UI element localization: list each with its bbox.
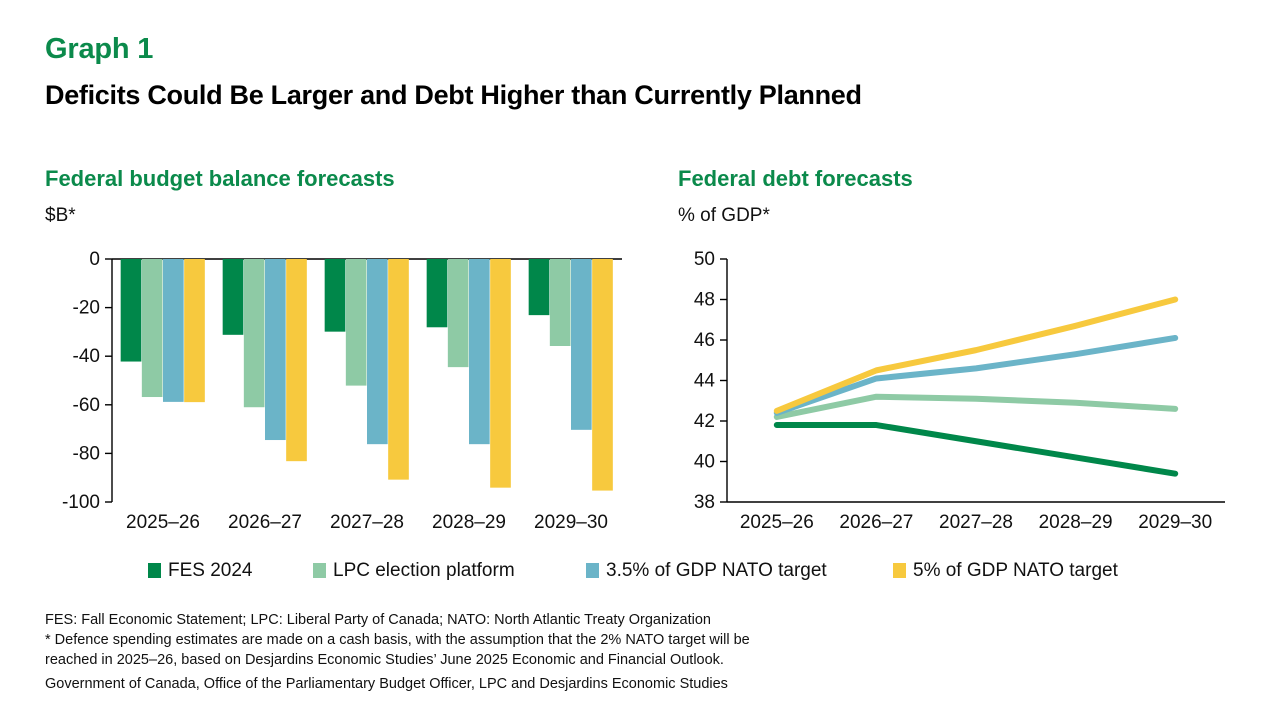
bar-segment: [529, 259, 550, 315]
page-title: Deficits Could Be Larger and Debt Higher…: [45, 80, 862, 111]
bar-segment: [592, 259, 613, 491]
graph-page: Graph 1 Deficits Could Be Larger and Deb…: [0, 0, 1280, 720]
footnote-asterisk-line-2: reached in 2025–26, based on Desjardins …: [45, 650, 724, 671]
bar-x-category-label: 2026–27: [228, 512, 302, 533]
bar-segment: [571, 259, 592, 430]
bar-chart-svg: 0-20-40-60-80-1002025–262026–272027–2820…: [40, 240, 640, 540]
line-series: [777, 397, 1175, 417]
legend-swatch-icon: [313, 563, 326, 578]
graph-number-label: Graph 1: [45, 33, 153, 66]
bar-y-tick-label: -40: [73, 346, 100, 367]
bar-x-category-label: 2029–30: [534, 512, 608, 533]
bar-y-tick-label: -60: [73, 395, 100, 416]
bar-segment: [388, 259, 409, 480]
bar-segment: [286, 259, 307, 461]
legend-swatch-icon: [893, 563, 906, 578]
legend-item-lpc-election-platform: LPC election platform: [313, 561, 515, 580]
bar-y-tick-label: -80: [73, 443, 100, 464]
bar-x-category-label: 2025–26: [126, 512, 200, 533]
bar-segment: [163, 259, 184, 402]
legend-label: 5% of GDP NATO target: [913, 561, 1118, 580]
bar-x-category-label: 2027–28: [330, 512, 404, 533]
line-series: [777, 425, 1175, 474]
legend-swatch-icon: [148, 563, 161, 578]
bar-chart: 0-20-40-60-80-1002025–262026–272027–2820…: [40, 240, 640, 540]
bar-segment: [244, 259, 265, 407]
line-y-tick-label: 44: [694, 371, 716, 392]
legend-label: FES 2024: [168, 561, 253, 580]
line-y-tick-label: 50: [694, 249, 715, 270]
bar-y-tick-label: 0: [89, 249, 100, 270]
bar-x-category-label: 2028–29: [432, 512, 506, 533]
bar-y-tick-label: -100: [62, 492, 100, 513]
legend-swatch-icon: [586, 563, 599, 578]
bar-segment: [142, 259, 163, 397]
line-y-tick-label: 42: [694, 411, 715, 432]
bar-segment: [223, 259, 244, 335]
bar-segment: [367, 259, 388, 444]
legend-label: LPC election platform: [333, 561, 515, 580]
left-panel-unit-label: $B*: [45, 205, 76, 227]
line-y-tick-label: 48: [694, 290, 715, 311]
bar-segment: [265, 259, 286, 440]
bar-y-tick-label: -20: [73, 298, 100, 319]
line-x-category-label: 2029–30: [1138, 512, 1212, 533]
right-panel-title: Federal debt forecasts: [678, 166, 913, 192]
bar-segment: [346, 259, 367, 386]
footnote-asterisk-line-1: * Defence spending estimates are made on…: [45, 630, 750, 651]
line-y-tick-label: 38: [694, 492, 715, 513]
line-chart: 504846444240382025–262026–272027–282028–…: [665, 240, 1245, 540]
right-panel-unit-label: % of GDP*: [678, 205, 770, 227]
bar-segment: [469, 259, 490, 444]
chart-legend: FES 2024 LPC election platform 3.5% of G…: [148, 561, 1148, 585]
bar-segment: [448, 259, 469, 367]
bar-segment: [490, 259, 511, 488]
footnote-abbreviations: FES: Fall Economic Statement; LPC: Liber…: [45, 610, 711, 631]
line-x-category-label: 2027–28: [939, 512, 1013, 533]
legend-item-nato-35-target: 3.5% of GDP NATO target: [586, 561, 827, 580]
line-x-category-label: 2025–26: [740, 512, 814, 533]
bar-segment: [184, 259, 205, 402]
line-x-category-label: 2028–29: [1039, 512, 1113, 533]
line-y-tick-label: 46: [694, 330, 715, 351]
line-x-category-label: 2026–27: [839, 512, 913, 533]
bar-segment: [550, 259, 571, 346]
left-panel-title: Federal budget balance forecasts: [45, 166, 395, 192]
source-line: Government of Canada, Office of the Parl…: [45, 676, 728, 692]
legend-item-nato-5-target: 5% of GDP NATO target: [893, 561, 1118, 580]
line-y-tick-label: 40: [694, 452, 715, 473]
legend-label: 3.5% of GDP NATO target: [606, 561, 827, 580]
bar-segment: [427, 259, 448, 327]
line-chart-svg: 504846444240382025–262026–272027–282028–…: [665, 240, 1245, 540]
legend-item-fes-2024: FES 2024: [148, 561, 253, 580]
bar-segment: [325, 259, 346, 332]
bar-segment: [121, 259, 142, 362]
